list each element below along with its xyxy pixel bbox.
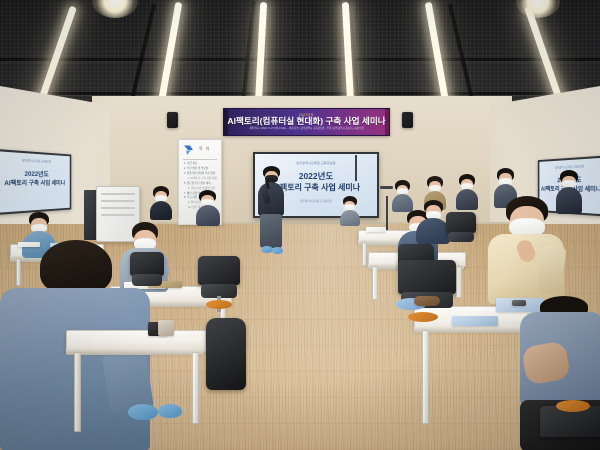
attendee-far-2 [456,174,478,210]
poster-heading: 목 차 [199,146,210,152]
chair-seat [448,232,474,242]
presenter [256,166,286,258]
blue-chevron-logo [183,144,194,156]
ceiling-beam [0,58,600,61]
chair-base-orange [206,300,232,309]
hair [40,240,112,294]
rack-vent [101,214,135,216]
desk-leg [422,330,429,424]
blue-shoe-cover [158,404,182,418]
desk-leg [362,242,367,266]
wall-speaker-right [402,112,413,128]
torso [416,218,450,244]
office-chair [540,406,600,450]
chair-back [446,212,476,233]
banner-right-edge [385,109,389,135]
attendee-far-8 [196,190,220,226]
monitor-left-header: 광주광역시교육청 교육정보원 [0,157,70,165]
side-monitor-left: 광주광역시교육청 교육정보원 2022년도 AI팩토리 구축 사업 세미나 [0,149,71,215]
attendee-right-mid-2 [416,200,450,244]
desk-front-left [66,330,204,350]
blue-document-folder [452,316,498,326]
torso [150,201,172,220]
attendee-far-3 [392,180,413,212]
monitor-left-year: 2022년도 [0,167,70,179]
monitor-left-title: AI팩토리 구축 사업 세미나 [0,178,70,188]
desk-leg [74,352,81,432]
torso [196,205,220,226]
desk-leg [456,266,462,298]
poster-divider [183,159,217,160]
mic-stand-pole [386,196,388,230]
rack-vent [101,200,135,202]
banner-left-edge [224,109,228,135]
camera-stand-pole [355,155,357,181]
banner-title: AI팩토리(컴퓨터실 현대화) 구축 사업 세미나 [227,117,385,126]
presenter-shoe-cover [272,247,283,254]
arm [538,245,567,295]
chair-base-orange [556,400,590,412]
rack-vent [101,193,135,195]
chair-base-orange [408,312,438,322]
desk-edge [66,349,204,355]
office-chair [198,256,240,298]
chair-back [198,256,240,285]
chair-back [398,260,456,294]
torso [456,189,478,210]
event-banner: 2022년도 AI팩토리(컴퓨터실 현대화) 구축 사업 세미나 개최 일시 |… [223,108,390,136]
presenter-trousers [260,214,282,248]
banner-subtitle: 개최 일시 | 2022. 6. 27.(월) 13:30~ · 개최 장소 |… [249,128,363,131]
rack-vent [101,207,135,209]
torso [340,210,360,226]
chair-back [130,252,164,276]
document-stack [158,320,174,336]
attendee-right-polo [488,196,564,304]
blue-shoe-cover [128,404,158,420]
attendee-far-7 [150,186,172,220]
poster-agenda-item: 4. AI팩토리 구축 사업 내용 [184,177,218,182]
ceiling-beam [0,92,600,95]
desk-leg [192,352,199,424]
floor-bag [414,296,440,306]
wall-speaker-left [167,112,178,128]
black-backpack [206,318,246,390]
office-chair [446,212,476,242]
desk-leg [372,266,378,300]
office-chair [130,252,164,286]
seminar-room-photo: 2022년도 AI팩토리(컴퓨터실 현대화) 구축 사업 세미나 개최 일시 |… [0,0,600,450]
document-paper [366,227,386,232]
chair-seat [132,274,162,286]
attendee-far-6 [340,196,360,226]
